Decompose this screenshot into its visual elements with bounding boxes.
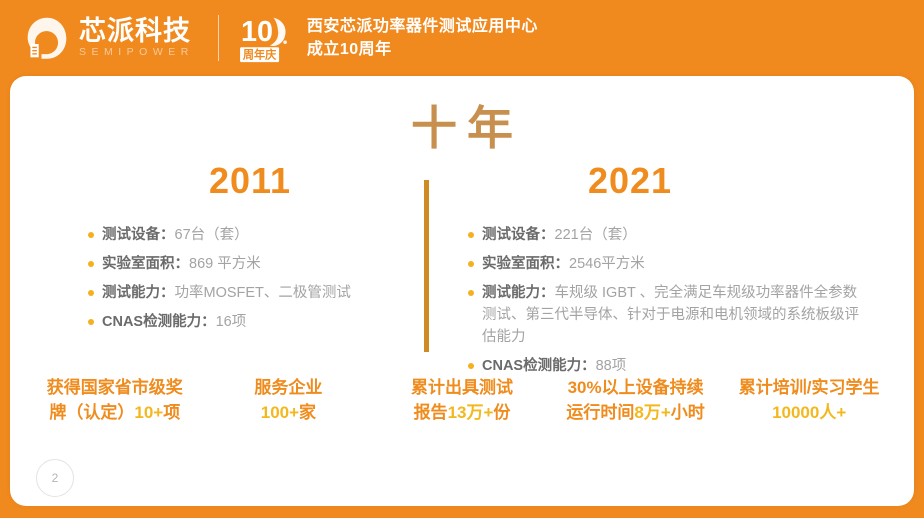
stat-prefix: 报告 <box>414 403 448 422</box>
list-item: CNAS检测能力：88项 <box>468 355 868 377</box>
bullet-label: CNAS检测能力： <box>482 358 596 374</box>
list-item: 实验室面积：2546平方米 <box>468 253 868 275</box>
stats-row: 获得国家省市级奖 牌（认定）10+项 服务企业 100+家 累计出具测试 报告1… <box>10 376 914 425</box>
stat-line1: 获得国家省市级奖 <box>32 376 198 401</box>
header-divider <box>218 15 219 61</box>
column-divider <box>424 180 429 352</box>
bullet-list-2011: 测试设备：67台（套） 实验室面积：869 平方米 测试能力：功率MOSFET、… <box>88 224 408 340</box>
stat-line2: 报告13万+份 <box>379 401 545 426</box>
stat-prefix: 牌（认定） <box>49 403 134 422</box>
stat-number: 10+ <box>134 403 163 422</box>
stat-line2: 运行时间8万+小时 <box>553 401 719 426</box>
bullet-value: 88项 <box>596 358 627 374</box>
bullet-value: 16项 <box>216 314 247 330</box>
stat-line2: 牌（认定）10+项 <box>32 401 198 426</box>
year-heading-2021: 2021 <box>510 160 750 202</box>
stat-number: 10000人+ <box>772 403 846 422</box>
brand-name-en: SEMIPOWER <box>79 46 194 59</box>
bullet-list-2021: 测试设备：221台（套） 实验室面积：2546平方米 测试能力：车规级 IGBT… <box>468 224 868 384</box>
bullet-value: 2546平方米 <box>569 256 645 272</box>
stat-suffix: 项 <box>163 403 180 422</box>
header-title-line1: 西安芯派功率器件测试应用中心 <box>307 15 538 38</box>
stat-suffix: 份 <box>493 403 510 422</box>
stat-suffix: 小时 <box>671 403 705 422</box>
list-item: 测试设备：221台（套） <box>468 224 868 246</box>
bullet-value: 221台（套） <box>555 227 637 243</box>
bullet-label: 测试能力： <box>482 285 555 301</box>
stat-item: 30%以上设备持续 运行时间8万+小时 <box>549 376 723 425</box>
brand-name-cn: 芯派科技 <box>79 17 194 45</box>
list-item: 测试能力：功率MOSFET、二极管测试 <box>88 282 408 304</box>
bullet-value: 67台（套） <box>175 227 249 243</box>
list-item: CNAS检测能力：16项 <box>88 311 408 333</box>
bullet-label: 测试能力： <box>102 285 175 301</box>
bullet-label: 测试设备： <box>482 227 555 243</box>
stat-item: 累计培训/实习学生 10000人+ <box>722 376 896 425</box>
bullet-label: 实验室面积： <box>482 256 569 272</box>
header-title-block: 西安芯派功率器件测试应用中心 成立10周年 <box>307 15 538 61</box>
stat-item: 累计出具测试 报告13万+份 <box>375 376 549 425</box>
list-item: 测试能力：车规级 IGBT 、完全满足车规级功率器件全参数测试、第三代半导体、针… <box>468 282 868 348</box>
stat-line1: 服务企业 <box>206 376 372 401</box>
slide-root: 芯派科技 SEMIPOWER 10 周年庆 西安芯派功率器件测试应用中心 成立1… <box>0 0 924 518</box>
semipower-aperture-logo-icon <box>24 15 70 61</box>
stat-number: 8万+ <box>634 403 670 422</box>
page-title: 十年 <box>10 92 914 158</box>
stat-line1: 累计出具测试 <box>379 376 545 401</box>
stat-number: 100+ <box>261 403 299 422</box>
stat-number: 13万+ <box>448 403 494 422</box>
stat-line2: 100+家 <box>206 401 372 426</box>
bullet-value: 功率MOSFET、二极管测试 <box>175 285 351 301</box>
stat-line2: 10000人+ <box>726 401 892 426</box>
bullet-value: 869 平方米 <box>189 256 261 272</box>
bullet-label: 实验室面积： <box>102 256 189 272</box>
stat-item: 服务企业 100+家 <box>202 376 376 425</box>
stat-item: 获得国家省市级奖 牌（认定）10+项 <box>28 376 202 425</box>
list-item: 实验室面积：869 平方米 <box>88 253 408 275</box>
page-number-badge: 2 <box>36 459 74 497</box>
bullet-label: 测试设备： <box>102 227 175 243</box>
10th-anniversary-badge-icon: 10 周年庆 <box>239 12 295 64</box>
svg-text:10: 10 <box>241 16 273 48</box>
stat-prefix: 运行时间 <box>566 403 634 422</box>
stat-suffix: 家 <box>299 403 316 422</box>
header-title-line2: 成立10周年 <box>307 38 538 61</box>
list-item: 测试设备：67台（套） <box>88 224 408 246</box>
bullet-label: CNAS检测能力： <box>102 314 216 330</box>
stat-line1: 30%以上设备持续 <box>553 376 719 401</box>
year-heading-2011: 2011 <box>130 160 370 202</box>
content-card: 十年 2011 2021 测试设备：67台（套） 实验室面积：869 平方米 测… <box>10 76 914 506</box>
svg-text:周年庆: 周年庆 <box>243 47 277 61</box>
header-bar: 芯派科技 SEMIPOWER 10 周年庆 西安芯派功率器件测试应用中心 成立1… <box>0 0 924 76</box>
stat-line1: 累计培训/实习学生 <box>726 376 892 401</box>
brand-block: 芯派科技 SEMIPOWER <box>79 17 194 59</box>
